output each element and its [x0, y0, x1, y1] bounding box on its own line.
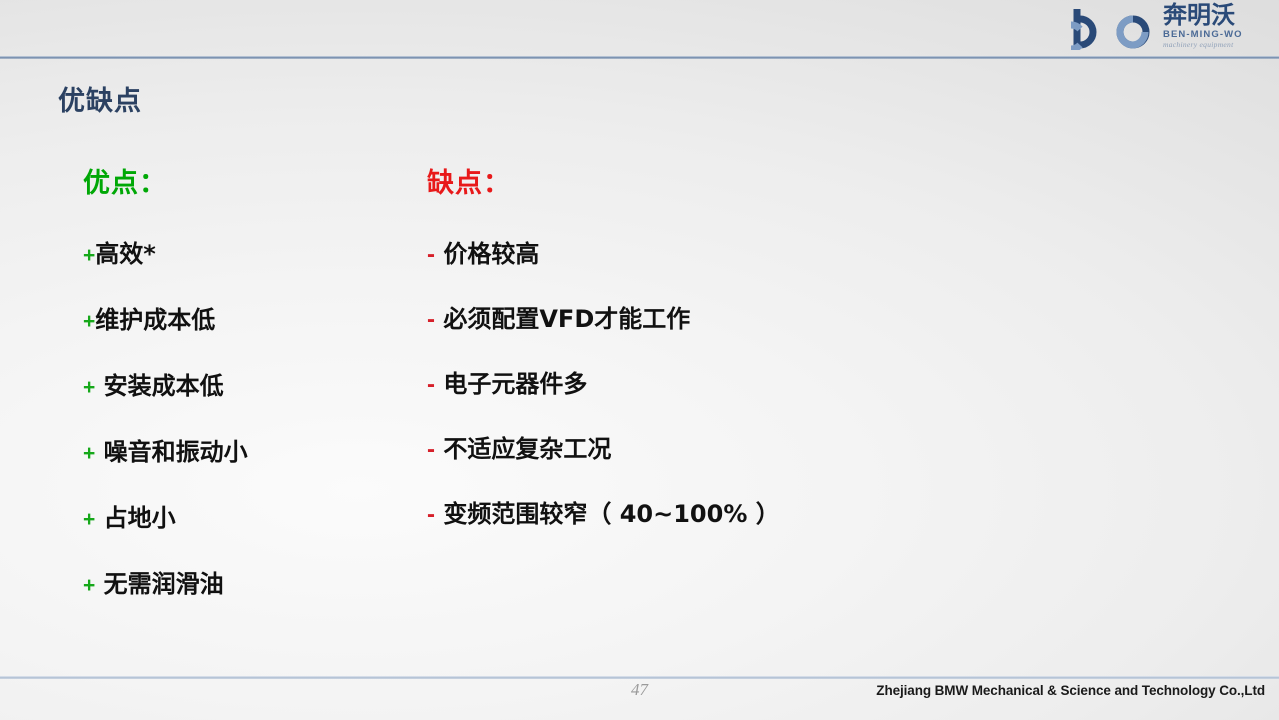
list-item-label: 安装成本低	[95, 372, 223, 400]
pros-heading: 优点：	[83, 168, 413, 200]
bo-monogram-icon	[1071, 6, 1159, 50]
cons-heading: 缺点：	[427, 168, 1067, 200]
list-item: - 电子元器件多	[427, 370, 1067, 399]
plus-marker-icon: +	[83, 244, 95, 267]
plus-marker-icon: +	[83, 574, 95, 597]
pros-column: 优点： +高效* +维护成本低 + 安装成本低 + 噪音和振动小 + 占地小 +…	[83, 168, 413, 636]
list-item-label: 高效*	[95, 240, 156, 268]
list-item: + 噪音和振动小	[83, 438, 413, 468]
cons-list: - 价格较高 - 必须配置VFD才能工作 - 电子元器件多 - 不适应复杂工况 …	[427, 240, 1067, 529]
list-item: - 必须配置VFD才能工作	[427, 305, 1067, 334]
pros-list: +高效* +维护成本低 + 安装成本低 + 噪音和振动小 + 占地小 + 无需润…	[83, 240, 413, 600]
list-item: + 无需润滑油	[83, 570, 413, 600]
list-item-label: 不适应复杂工况	[435, 435, 611, 463]
header-divider-rule	[0, 56, 1279, 59]
minus-marker-icon: -	[427, 436, 435, 463]
list-item-label: 占地小	[95, 504, 175, 532]
list-item-label: 价格较高	[435, 240, 539, 268]
list-item-label: 变频范围较窄（ 40~100% ）	[435, 500, 780, 528]
footer-divider-rule	[0, 676, 1279, 679]
plus-marker-icon: +	[83, 310, 95, 333]
minus-marker-icon: -	[427, 306, 435, 333]
logo-chinese-name: 奔明沃	[1163, 2, 1271, 29]
footer-company-name: Zhejiang BMW Mechanical & Science and Te…	[876, 683, 1265, 698]
list-item: - 不适应复杂工况	[427, 435, 1067, 464]
list-item: + 安装成本低	[83, 372, 413, 402]
list-item: +高效*	[83, 240, 413, 270]
logo-english-name: BEN-MING-WO	[1163, 29, 1271, 40]
minus-marker-icon: -	[427, 501, 435, 528]
list-item-label: 无需润滑油	[95, 570, 223, 598]
logo-tagline: machinery equipment	[1163, 40, 1271, 49]
minus-marker-icon: -	[427, 371, 435, 398]
page-title: 优缺点	[58, 79, 142, 118]
slide-canvas: 奔明沃 BEN-MING-WO machinery equipment 优缺点 …	[0, 0, 1279, 720]
list-item-label: 维护成本低	[95, 306, 215, 334]
company-logo: 奔明沃 BEN-MING-WO machinery equipment	[1071, 2, 1271, 54]
list-item: - 变频范围较窄（ 40~100% ）	[427, 500, 1067, 529]
list-item: - 价格较高	[427, 240, 1067, 269]
minus-marker-icon: -	[427, 241, 435, 268]
list-item-label: 必须配置VFD才能工作	[435, 305, 690, 333]
plus-marker-icon: +	[83, 508, 95, 531]
cons-column: 缺点： - 价格较高 - 必须配置VFD才能工作 - 电子元器件多 - 不适应复…	[427, 168, 1067, 565]
list-item-label: 电子元器件多	[435, 370, 587, 398]
list-item-label: 噪音和振动小	[95, 438, 247, 466]
plus-marker-icon: +	[83, 442, 95, 465]
logo-wordmark: 奔明沃 BEN-MING-WO machinery equipment	[1163, 2, 1271, 49]
list-item: + 占地小	[83, 504, 413, 534]
list-item: +维护成本低	[83, 306, 413, 336]
plus-marker-icon: +	[83, 376, 95, 399]
